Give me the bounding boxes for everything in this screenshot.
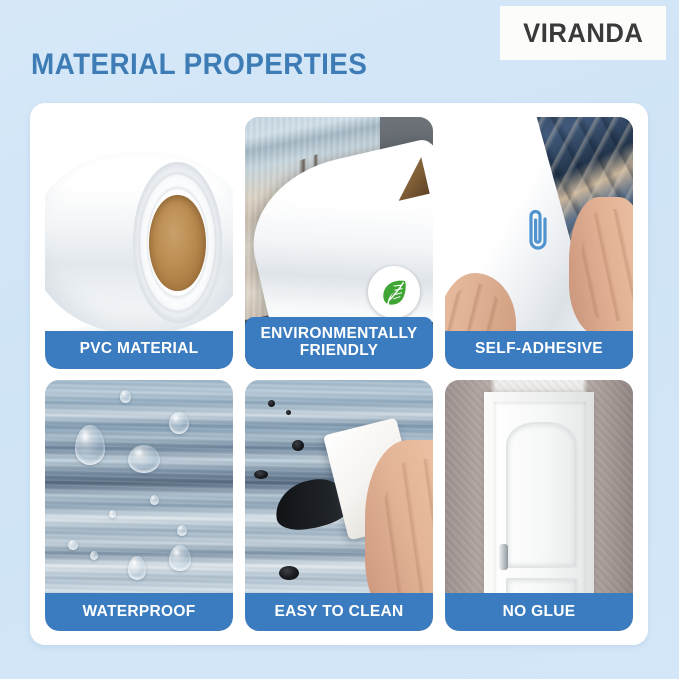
- water-droplet: [68, 540, 78, 550]
- water-droplet: [177, 525, 187, 536]
- feature-card: PVC MATERIAL: [30, 103, 648, 645]
- leaf-icon: [377, 275, 411, 309]
- feature-cell-pvc-material[interactable]: PVC MATERIAL: [45, 117, 233, 369]
- brand-name: VIRANDA: [523, 18, 643, 49]
- infographic-page: VIRANDA MATERIAL PROPERTIES PVC MATERIAL: [0, 0, 679, 679]
- feature-label-waterproof: WATERPROOF: [45, 593, 233, 631]
- feature-label-pvc-material: PVC MATERIAL: [45, 331, 233, 369]
- right-hand: [569, 197, 633, 338]
- door-handle: [499, 544, 508, 570]
- feature-label-no-glue: NO GLUE: [445, 593, 633, 631]
- feature-cell-self-adhesive[interactable]: SELF-ADHESIVE: [445, 117, 633, 369]
- feature-cell-waterproof[interactable]: WATERPROOF: [45, 380, 233, 632]
- page-title: MATERIAL PROPERTIES: [31, 48, 367, 82]
- feature-label-self-adhesive: SELF-ADHESIVE: [445, 331, 633, 369]
- water-droplet: [128, 556, 146, 580]
- feature-grid: PVC MATERIAL: [45, 117, 633, 631]
- water-droplet: [169, 545, 191, 571]
- feature-label-easy-to-clean: EASY TO CLEAN: [245, 593, 433, 631]
- waterproof-image: WATERPROOF: [45, 380, 233, 632]
- ink-spot: [292, 440, 304, 451]
- feature-cell-easy-to-clean[interactable]: EASY TO CLEAN: [245, 380, 433, 632]
- feature-cell-no-glue[interactable]: NO GLUE: [445, 380, 633, 632]
- water-droplet: [169, 412, 189, 434]
- ink-spot: [279, 566, 299, 580]
- water-droplet: [90, 551, 98, 560]
- brand-logo-box: VIRANDA: [500, 6, 666, 60]
- water-droplet: [128, 445, 160, 473]
- water-droplet: [120, 390, 131, 403]
- feature-cell-environmentally-friendly[interactable]: ENVIRONMENTALLY FRIENDLY: [245, 117, 433, 369]
- ink-spot: [268, 400, 275, 407]
- door-panel-upper: [506, 422, 578, 568]
- roll-cardboard-core: [149, 195, 205, 291]
- feature-label-environmentally-friendly: ENVIRONMENTALLY FRIENDLY: [245, 317, 433, 369]
- paperclip-icon: [526, 205, 552, 257]
- eco-badge: [368, 266, 420, 318]
